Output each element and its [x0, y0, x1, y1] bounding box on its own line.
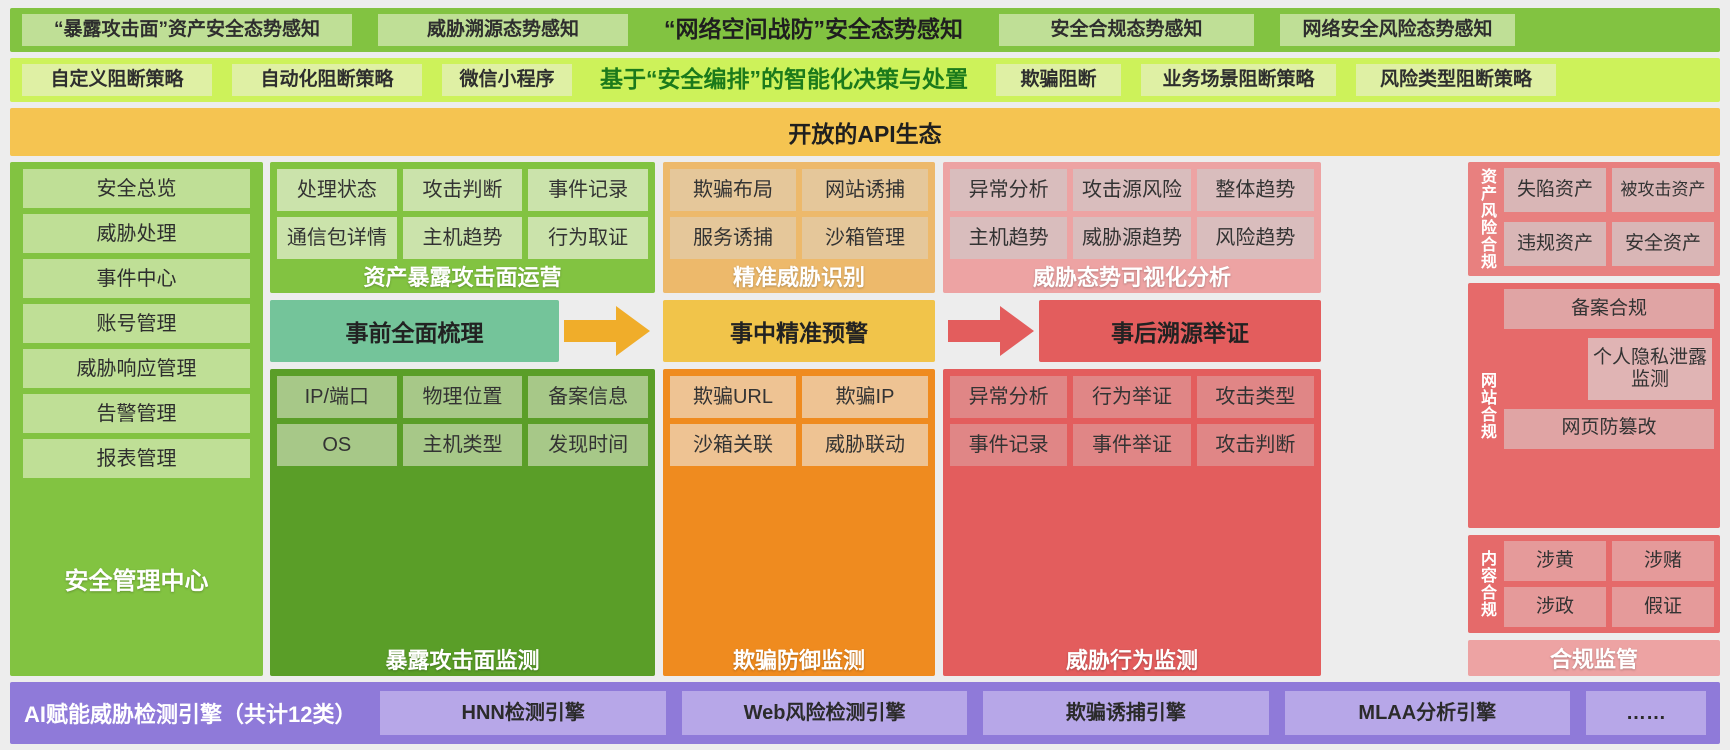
chip-behavior-forensics[interactable]: 行为取证	[528, 217, 648, 259]
chip-mlaa-engine[interactable]: MLAA分析引擎	[1285, 691, 1570, 735]
stage-row-during: 事中精准预警	[663, 300, 935, 362]
chip-deception-layout[interactable]: 欺骗布局	[670, 169, 796, 211]
sidebar-item-event-center[interactable]: 事件中心	[23, 259, 250, 298]
sidebar-item-security-overview[interactable]: 安全总览	[23, 169, 250, 208]
chip-discovery-time[interactable]: 发现时间	[528, 424, 648, 466]
chip-custom-block-policy[interactable]: 自定义阻断策略	[22, 64, 212, 96]
compliance-block-asset-risk: 资产风险合规 失陷资产 被攻击资产 违规资产 安全资产	[1468, 162, 1720, 276]
chip-security-compliance-awareness[interactable]: 安全合规态势感知	[999, 14, 1254, 46]
row-title-cyberspace-defense: “网络空间战防”安全态势感知	[654, 14, 973, 46]
chip-packet-detail[interactable]: 通信包详情	[277, 217, 397, 259]
main-grid: 安全总览 威胁处理 事件中心 账号管理 威胁响应管理 告警管理 报表管理 安全管…	[10, 162, 1720, 676]
chip-auto-block-policy[interactable]: 自动化阻断策略	[232, 64, 422, 96]
compliance-block-website: 网站合规 备案合规 网页防篡改	[1468, 283, 1720, 528]
chip-more-engines[interactable]: ……	[1586, 691, 1706, 735]
ai-engine-title: AI赋能威胁检测引擎（共计12类）	[24, 697, 364, 729]
security-management-center: 安全总览 威胁处理 事件中心 账号管理 威胁响应管理 告警管理 报表管理 安全管…	[10, 162, 263, 676]
chip-behavior-evidence[interactable]: 行为举证	[1073, 376, 1190, 418]
arrow-amber-icon	[559, 300, 655, 362]
chip-privacy-leak-monitoring[interactable]: 个人隐私泄露监测	[1588, 338, 1712, 400]
chip-business-scenario-block-policy[interactable]: 业务场景阻断策略	[1141, 64, 1336, 96]
chip-website-trap[interactable]: 网站诱捕	[802, 169, 928, 211]
chip-compromised-asset[interactable]: 失陷资产	[1504, 168, 1606, 212]
chip-threat-source-trend[interactable]: 威胁源趋势	[1073, 217, 1190, 259]
chip-political[interactable]: 涉政	[1504, 587, 1606, 627]
sidebar-item-account-management[interactable]: 账号管理	[23, 304, 250, 343]
chip-deception-url[interactable]: 欺骗URL	[670, 376, 796, 418]
panel-threat-behavior-monitoring: 异常分析 行为举证 攻击类型 事件记录 事件举证 攻击判断 威胁行为监测	[943, 369, 1321, 676]
stage-after: 事后溯源举证	[1039, 300, 1321, 362]
sidebar-item-threat-handling[interactable]: 威胁处理	[23, 214, 250, 253]
stage-row-after: 事后溯源举证	[943, 300, 1321, 362]
chip-os[interactable]: OS	[277, 424, 397, 466]
chip-icp-record-info[interactable]: 备案信息	[528, 376, 648, 418]
column-threat: 异常分析 攻击源风险 整体趋势 主机趋势 威胁源趋势 风险趋势 威胁态势可视化分…	[943, 162, 1321, 676]
stage-during: 事中精准预警	[663, 300, 935, 362]
chip-threat-tracing-awareness[interactable]: 威胁溯源态势感知	[378, 14, 628, 46]
api-ecosystem-banner: 开放的API生态	[10, 108, 1720, 156]
chip-event-record-2[interactable]: 事件记录	[950, 424, 1067, 466]
chip-risk-type-block-policy[interactable]: 风险类型阻断策略	[1356, 64, 1556, 96]
compliance-title: 合规监管	[1468, 640, 1720, 676]
chip-fake-certificate[interactable]: 假证	[1612, 587, 1714, 627]
chip-risk-trend[interactable]: 风险趋势	[1197, 217, 1314, 259]
panel-title-precise-threat-identification: 精准威胁识别	[670, 259, 928, 293]
compliance-column: 资产风险合规 失陷资产 被攻击资产 违规资产 安全资产 网站合规 备案合规 网页…	[1468, 162, 1720, 676]
sidebar-item-threat-response-management[interactable]: 威胁响应管理	[23, 349, 250, 388]
chip-service-trap[interactable]: 服务诱捕	[670, 217, 796, 259]
chip-network-risk-awareness[interactable]: 网络安全风险态势感知	[1280, 14, 1515, 46]
chip-sandbox-correlation[interactable]: 沙箱关联	[670, 424, 796, 466]
chip-sandbox-management[interactable]: 沙箱管理	[802, 217, 928, 259]
chip-host-trend[interactable]: 主机趋势	[403, 217, 523, 259]
chip-attack-judgement-2[interactable]: 攻击判断	[1197, 424, 1314, 466]
panel-deception-defense-monitoring: 欺骗URL 欺骗IP 沙箱关联 威胁联动 欺骗防御监测	[663, 369, 935, 676]
chip-host-trend-2[interactable]: 主机趋势	[950, 217, 1067, 259]
compliance-label-content: 内容合规	[1474, 541, 1498, 627]
chip-event-record[interactable]: 事件记录	[528, 169, 648, 211]
panel-asset-exposure-operations: 处理状态 攻击判断 事件记录 通信包详情 主机趋势 行为取证 资产暴露攻击面运营	[270, 162, 655, 293]
panel-attack-surface-monitoring: IP/端口 物理位置 备案信息 OS 主机类型 发现时间 暴露攻击面监测	[270, 369, 655, 676]
chip-attack-source-risk[interactable]: 攻击源风险	[1073, 169, 1190, 211]
orchestration-row: 自定义阻断策略 自动化阻断策略 微信小程序 基于“安全编排”的智能化决策与处置 …	[10, 58, 1720, 102]
chip-ip-port[interactable]: IP/端口	[277, 376, 397, 418]
panel-threat-situation-visualization: 异常分析 攻击源风险 整体趋势 主机趋势 威胁源趋势 风险趋势 威胁态势可视化分…	[943, 162, 1321, 293]
chip-attack-type[interactable]: 攻击类型	[1197, 376, 1314, 418]
architecture-diagram: “暴露攻击面”资产安全态势感知 威胁溯源态势感知 “网络空间战防”安全态势感知 …	[0, 0, 1730, 750]
chip-attacked-asset[interactable]: 被攻击资产	[1612, 168, 1714, 212]
panel-title-asset-exposure-operations: 资产暴露攻击面运营	[277, 259, 648, 293]
chip-attack-judgement[interactable]: 攻击判断	[403, 169, 523, 211]
chip-deception-block[interactable]: 欺骗阻断	[996, 64, 1121, 96]
row-title-security-orchestration: 基于“安全编排”的智能化决策与处置	[592, 64, 976, 96]
chip-wechat-miniprogram[interactable]: 微信小程序	[442, 64, 572, 96]
column-attack-surface: 处理状态 攻击判断 事件记录 通信包详情 主机趋势 行为取证 资产暴露攻击面运营…	[270, 162, 655, 676]
chip-violating-asset[interactable]: 违规资产	[1504, 222, 1606, 266]
chip-gambling[interactable]: 涉赌	[1612, 541, 1714, 581]
chip-secure-asset[interactable]: 安全资产	[1612, 222, 1714, 266]
chip-anomaly-analysis-2[interactable]: 异常分析	[950, 376, 1067, 418]
column-deception: 欺骗布局 网站诱捕 服务诱捕 沙箱管理 精准威胁识别 事中精准预警 欺骗URL …	[663, 162, 935, 676]
chip-event-evidence[interactable]: 事件举证	[1073, 424, 1190, 466]
panel-title-threat-situation-visualization: 威胁态势可视化分析	[950, 259, 1314, 293]
chip-deception-trap-engine[interactable]: 欺骗诱捕引擎	[983, 691, 1268, 735]
situational-awareness-row: “暴露攻击面”资产安全态势感知 威胁溯源态势感知 “网络空间战防”安全态势感知 …	[10, 8, 1720, 52]
chip-physical-location[interactable]: 物理位置	[403, 376, 523, 418]
sidebar-item-report-management[interactable]: 报表管理	[23, 439, 250, 478]
chip-web-risk-engine[interactable]: Web风险检测引擎	[682, 691, 967, 735]
compliance-label-website: 网站合规	[1474, 289, 1498, 522]
panel-title-attack-surface-monitoring: 暴露攻击面监测	[277, 642, 648, 676]
compliance-block-content: 内容合规 涉黄 涉赌 涉政 假证	[1468, 535, 1720, 633]
chip-pornography[interactable]: 涉黄	[1504, 541, 1606, 581]
chip-overall-trend[interactable]: 整体趋势	[1197, 169, 1314, 211]
flow-columns: 处理状态 攻击判断 事件记录 通信包详情 主机趋势 行为取证 资产暴露攻击面运营…	[270, 162, 1461, 676]
chip-host-type[interactable]: 主机类型	[403, 424, 523, 466]
panel-title-threat-behavior-monitoring: 威胁行为监测	[950, 642, 1314, 676]
ai-engine-row: AI赋能威胁检测引擎（共计12类） HNN检测引擎 Web风险检测引擎 欺骗诱捕…	[10, 682, 1720, 744]
chip-icp-filing-compliance[interactable]: 备案合规	[1504, 289, 1714, 329]
arrow-red-icon	[943, 300, 1039, 362]
panel-title-deception-defense-monitoring: 欺骗防御监测	[670, 642, 928, 676]
chip-handling-status[interactable]: 处理状态	[277, 169, 397, 211]
sidebar-title: 安全管理中心	[23, 484, 250, 676]
stage-before: 事前全面梳理	[270, 300, 559, 362]
stage-row-before: 事前全面梳理	[270, 300, 655, 362]
compliance-label-asset-risk: 资产风险合规	[1474, 168, 1498, 270]
chip-deception-ip[interactable]: 欺骗IP	[802, 376, 928, 418]
chip-exposed-attack-surface-awareness[interactable]: “暴露攻击面”资产安全态势感知	[22, 14, 352, 46]
sidebar-item-alarm-management[interactable]: 告警管理	[23, 394, 250, 433]
chip-anomaly-analysis[interactable]: 异常分析	[950, 169, 1067, 211]
panel-precise-threat-identification: 欺骗布局 网站诱捕 服务诱捕 沙箱管理 精准威胁识别	[663, 162, 935, 293]
chip-hnn-engine[interactable]: HNN检测引擎	[380, 691, 665, 735]
chip-webpage-anti-tamper[interactable]: 网页防篡改	[1504, 409, 1714, 449]
chip-threat-linkage[interactable]: 威胁联动	[802, 424, 928, 466]
